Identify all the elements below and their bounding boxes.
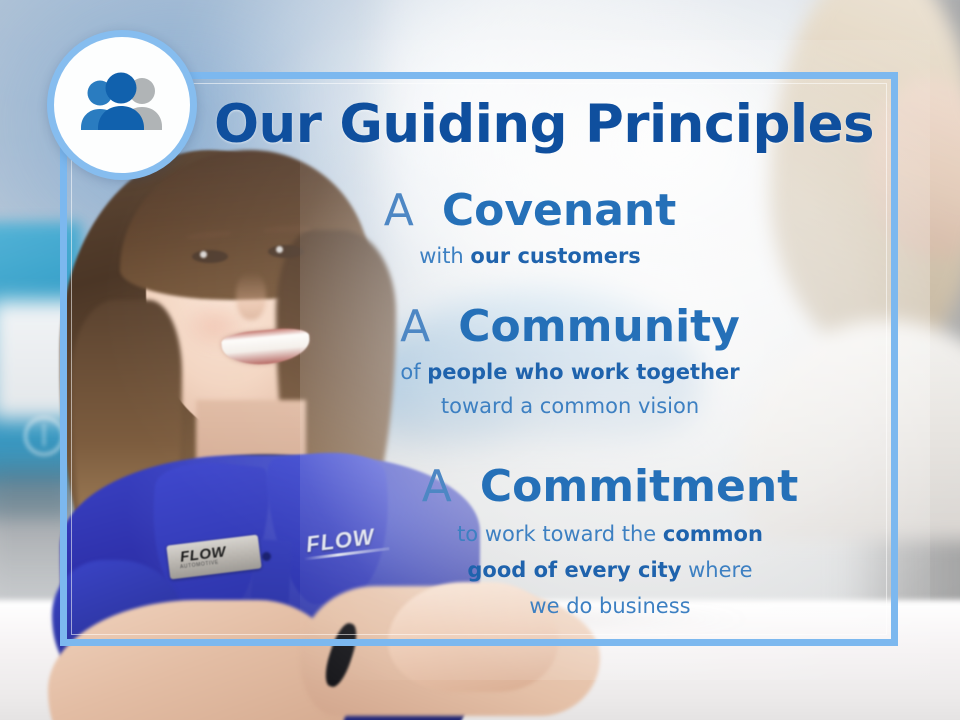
principle-subline: good of every city where bbox=[330, 556, 890, 584]
page-title: Our Guiding Principles bbox=[214, 96, 864, 154]
principle-subline: with our customers bbox=[250, 242, 810, 270]
principle-article: A bbox=[384, 185, 428, 236]
principle-title: A Covenant bbox=[250, 186, 810, 236]
subline-text: of bbox=[400, 360, 427, 384]
principle-keyword: Commitment bbox=[480, 461, 798, 512]
principle-subline: we do business bbox=[330, 592, 890, 620]
associate-nose bbox=[236, 272, 266, 320]
principle-subline: to work toward the common bbox=[330, 520, 890, 548]
people-group-icon bbox=[74, 72, 170, 138]
principle-covenant: A Covenant with our customers bbox=[250, 186, 810, 270]
principle-title: A Commitment bbox=[330, 462, 890, 512]
subline-text: with bbox=[419, 244, 470, 268]
shirt-button-top bbox=[262, 552, 271, 561]
associate-eye-highlight-left bbox=[200, 251, 207, 258]
principle-commitment: A Commitment to work toward the common g… bbox=[330, 462, 890, 620]
guiding-principles-banner: FLOW AUTOMOTIVE FLOW bbox=[0, 0, 960, 720]
principle-keyword: Community bbox=[458, 301, 740, 352]
subline-emphasis: good of every city bbox=[467, 558, 681, 582]
principle-subline: of people who work together bbox=[290, 358, 850, 386]
subline-emphasis: common bbox=[663, 522, 763, 546]
associate-eye-left bbox=[192, 250, 228, 263]
principle-article: A bbox=[422, 461, 466, 512]
subline-text: we do business bbox=[529, 594, 690, 618]
principle-community: A Community of people who work together … bbox=[290, 302, 850, 420]
subline-emphasis: people who work together bbox=[427, 360, 739, 384]
subline-text: to work toward the bbox=[457, 522, 663, 546]
subline-text: toward a common vision bbox=[441, 394, 699, 418]
subline-emphasis: our customers bbox=[470, 244, 640, 268]
principle-subline: toward a common vision bbox=[290, 392, 850, 420]
principle-title: A Community bbox=[290, 302, 850, 352]
people-group-badge bbox=[47, 30, 197, 180]
principle-keyword: Covenant bbox=[442, 185, 676, 236]
subline-text: where bbox=[681, 558, 752, 582]
principle-article: A bbox=[400, 301, 444, 352]
